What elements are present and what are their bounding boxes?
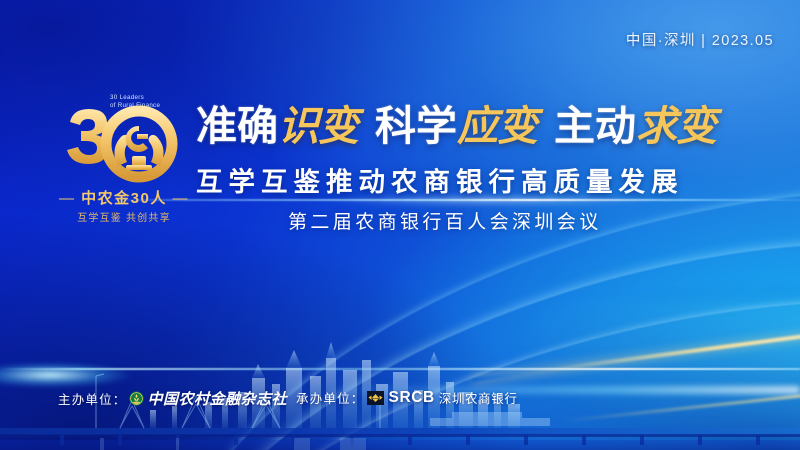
magazine-emblem-icon bbox=[129, 391, 144, 406]
organizer-label: 主办单位： bbox=[58, 389, 127, 408]
organizer-name: 中国农村金融杂志社 bbox=[148, 388, 288, 409]
headline-seg1-white: 准确 bbox=[196, 103, 278, 149]
host-name-en: SRCB bbox=[389, 389, 435, 407]
srcb-logo-icon bbox=[367, 391, 384, 405]
logo-english-line1: 30 Leaders bbox=[110, 94, 160, 102]
hands-holding-coin-icon bbox=[44, 104, 204, 186]
logo-slogan: 互学互鉴 共创共享 bbox=[44, 209, 204, 224]
headline-seg2-gold: 应变 bbox=[457, 102, 537, 150]
title-divider-line bbox=[100, 199, 800, 201]
logo-dash-right: — bbox=[173, 190, 190, 207]
logo-dash-left: — bbox=[59, 190, 76, 207]
headline-seg1-gold: 识变 bbox=[278, 102, 358, 150]
headline-seg2-white: 科学 bbox=[375, 103, 457, 149]
headline-seg3-white: 主动 bbox=[554, 103, 636, 149]
main-headline: 准确识变科学应变主动求变 bbox=[196, 103, 716, 149]
host-label: 承办单位： bbox=[296, 388, 365, 407]
host-group: 承办单位： SRCB 深圳农商银行 bbox=[296, 388, 517, 407]
logo-chinese-name-text: 中农金30人 bbox=[81, 190, 167, 207]
anniversary-logo: 30 Leaders of Rural Finance bbox=[44, 88, 204, 236]
headline-subtitle: 互学互鉴推动农商银行高质量发展 bbox=[196, 160, 684, 199]
conference-poster: 中国·深圳 | 2023.05 30 Leaders of Rural Fina… bbox=[0, 0, 800, 450]
conference-name: 第二届农商银行百人会深圳会议 bbox=[288, 207, 602, 234]
headline-seg3-gold: 求变 bbox=[636, 102, 716, 150]
date-location-label: 中国·深圳 | 2023.05 bbox=[626, 29, 774, 50]
credits-row: 主办单位： 中国农村金融杂志社 承办单位： SRCB 深圳 bbox=[0, 388, 800, 412]
organizer-group: 主办单位： 中国农村金融杂志社 bbox=[58, 388, 287, 409]
logo-chinese-name: — 中农金30人 — bbox=[44, 187, 204, 208]
shenzhen-skyline-silhouette-icon bbox=[0, 272, 800, 450]
host-name-cn: 深圳农商银行 bbox=[439, 388, 518, 407]
